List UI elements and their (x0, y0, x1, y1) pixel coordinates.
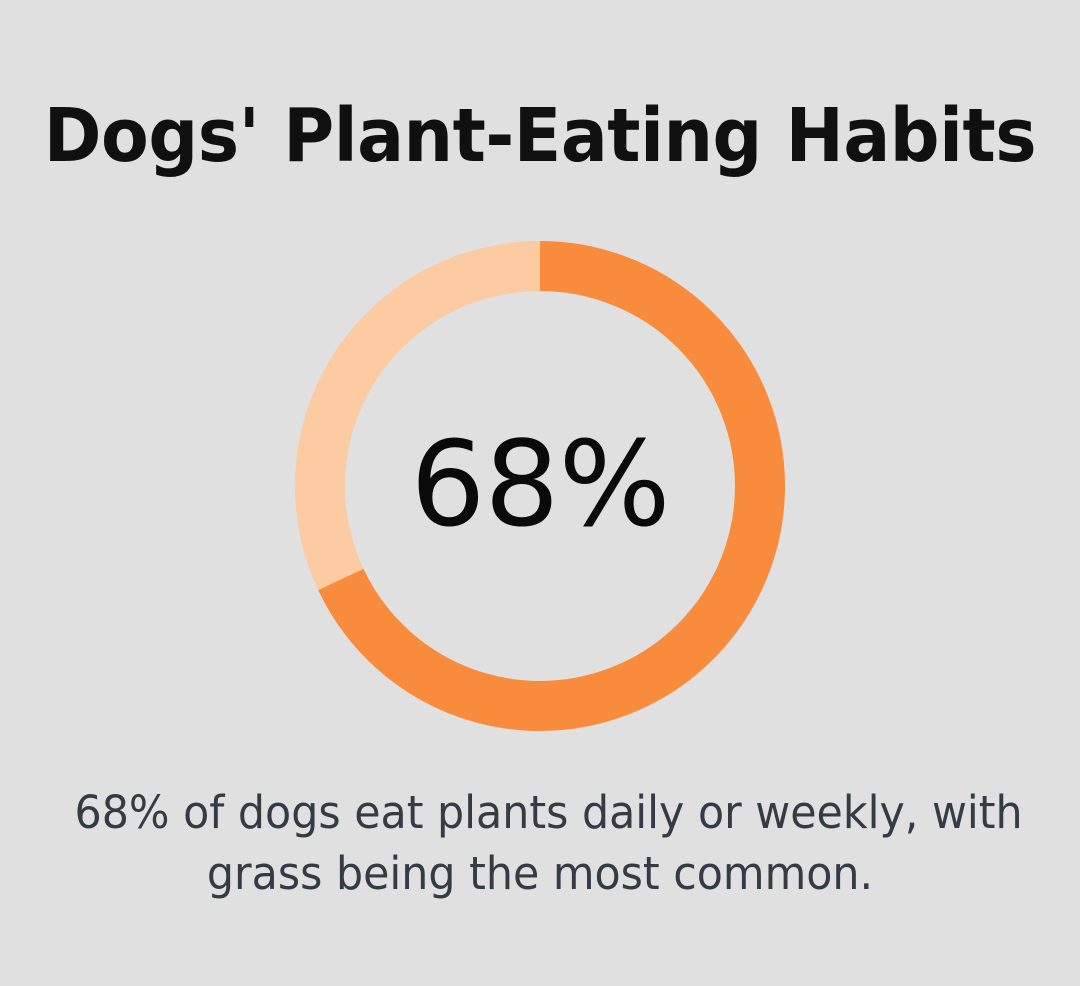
donut-chart-svg (295, 241, 785, 731)
caption-line: grass being the most common. (75, 843, 1006, 904)
infographic-card: Dogs' Plant-Eating Habits 68% 68% of dog… (0, 0, 1080, 986)
page-title: Dogs' Plant-Eating Habits (32, 96, 1047, 176)
caption: 68% of dogs eat plants daily or weekly, … (75, 782, 1006, 904)
caption-line: 68% of dogs eat plants daily or weekly, … (75, 782, 1006, 843)
donut-chart: 68% (295, 241, 785, 731)
